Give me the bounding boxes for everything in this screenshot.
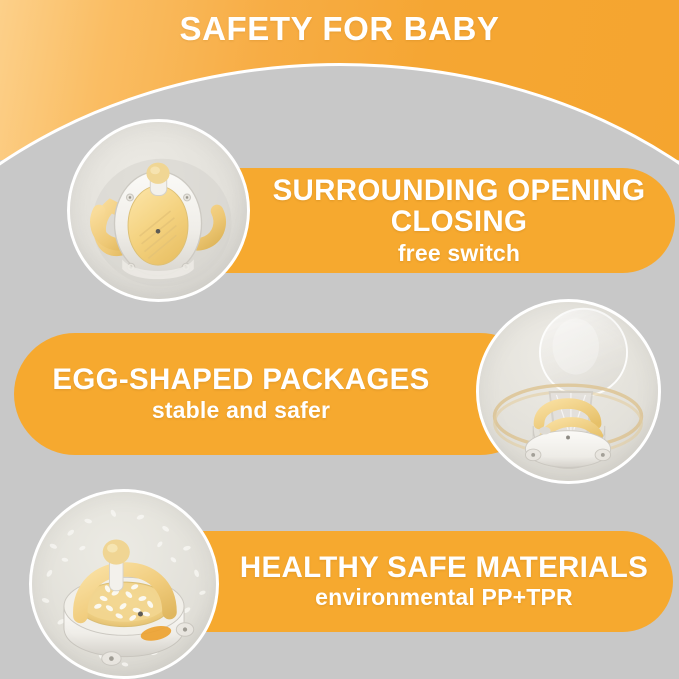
- egg-shaped-package-icon: [479, 302, 658, 481]
- feature-image-product-with-material-pellets: [29, 489, 219, 679]
- page-title: SAFETY FOR BABY: [0, 9, 679, 49]
- feature-image-egg-cooker-top-view: [67, 119, 250, 302]
- feature-image-egg-shaped-package-open-dome: [476, 299, 661, 484]
- feature-pill-surrounding-opening-closing: SURROUNDING OPENING CLOSING free switch: [225, 168, 675, 273]
- egg-cooker-top-view-icon: [70, 122, 247, 299]
- feature-subline-1: free switch: [255, 241, 663, 266]
- feature-headline-3: HEALTHY SAFE MATERIALS: [225, 552, 663, 583]
- feature-headline-2: EGG-SHAPED PACKAGES: [36, 364, 446, 395]
- feature-subline-3: environmental PP+TPR: [225, 585, 663, 610]
- feature-subline-2: stable and safer: [36, 398, 446, 423]
- feature-headline-1-line2: CLOSING: [255, 206, 663, 237]
- infographic-poster: SAFETY FOR BABY SURROUNDING OPENING CLOS…: [0, 0, 679, 679]
- feature-headline-1: SURROUNDING OPENING: [255, 175, 663, 206]
- feature-pill-egg-shaped-packages: EGG-SHAPED PACKAGES stable and safer: [14, 333, 541, 455]
- feature-pill-healthy-safe-materials: HEALTHY SAFE MATERIALS environmental PP+…: [190, 531, 673, 632]
- product-with-pellets-icon: [32, 492, 216, 676]
